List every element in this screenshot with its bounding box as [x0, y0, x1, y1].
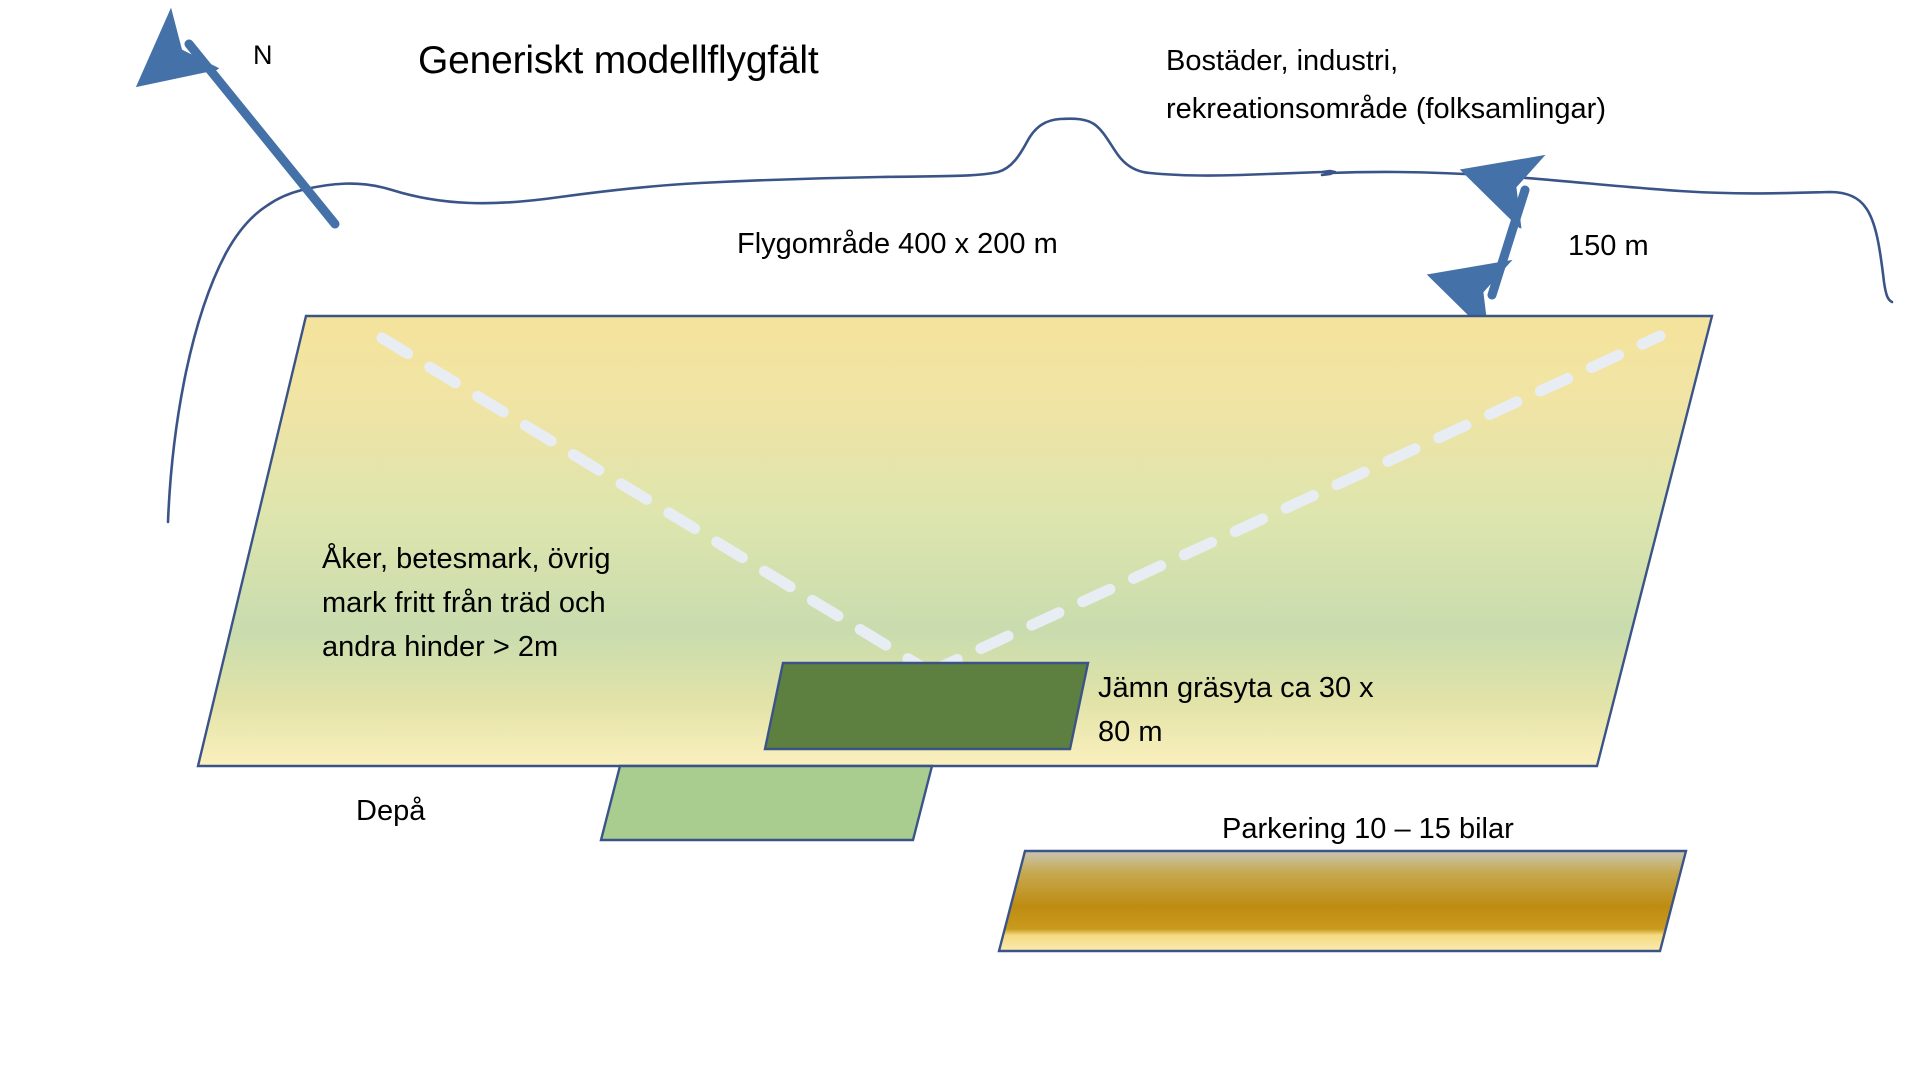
north-label: N — [253, 38, 273, 73]
depot-polygon — [601, 766, 932, 840]
diagram-vector-layer — [0, 0, 1920, 1080]
field-description-line1: Åker, betesmark, övrig — [322, 541, 611, 579]
distance-arrow-150m — [1492, 190, 1525, 295]
surroundings-label-line2: rekreationsområde (folksamlingar) — [1166, 91, 1606, 129]
parking-label: Parkering 10 – 15 bilar — [1222, 811, 1514, 849]
runway-label-line2: 80 m — [1098, 714, 1162, 752]
runway-label-line1: Jämn gräsyta ca 30 x — [1098, 670, 1374, 708]
distance-150m-label: 150 m — [1568, 228, 1649, 266]
surroundings-label-line1: Bostäder, industri, — [1166, 43, 1398, 81]
field-description-line2: mark fritt från träd och — [322, 585, 606, 623]
page-title: Generiskt modellflygfält — [418, 36, 819, 87]
diagram-canvas: N Generiskt modellflygfält Bostäder, ind… — [0, 0, 1920, 1080]
flight-area-label: Flygområde 400 x 200 m — [737, 226, 1058, 264]
parking-polygon — [999, 851, 1686, 951]
runway-polygon — [765, 663, 1088, 749]
depot-label: Depå — [356, 793, 425, 831]
field-description-line3: andra hinder > 2m — [322, 629, 558, 667]
